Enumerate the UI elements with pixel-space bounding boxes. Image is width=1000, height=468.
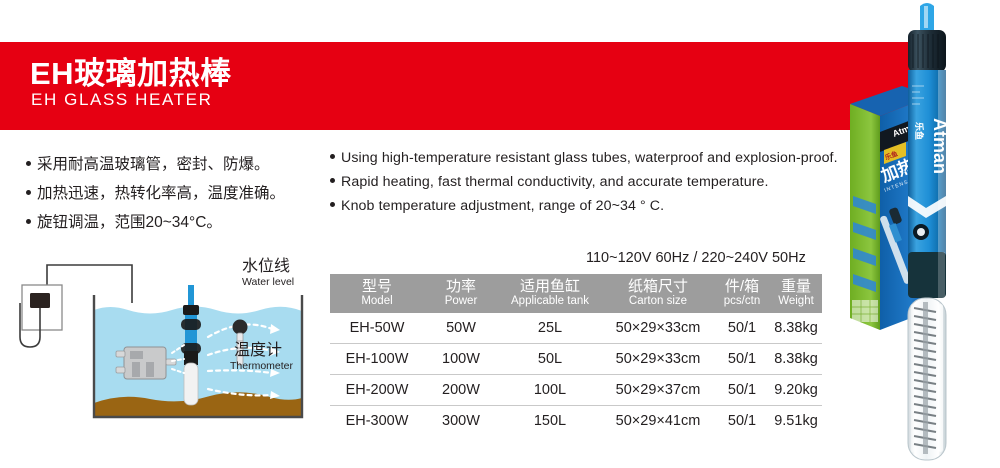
page-subtitle: EH GLASS HEATER [31,90,212,110]
water-level-label-en: Water level [242,276,294,288]
column-header-en: Power [424,295,498,308]
cell-tank: 25L [498,313,602,344]
cell-pcs: 50/1 [714,406,770,437]
feature-text: Using high-temperature resistant glass t… [341,150,838,166]
thermometer-label-cn: 温度计 [234,341,282,359]
glass-gloss-left [911,304,914,452]
column-header-cn: 功率 [424,278,498,295]
feature-text: Rapid heating, fast thermal conductivity… [341,174,769,190]
cell-pcs: 50/1 [714,344,770,375]
cell-model: EH-100W [330,344,424,375]
cell-weight: 9.20kg [770,375,822,406]
column-header-en: Carton size [602,295,714,308]
specification-table: 型号 Model 功率 Power 适用鱼缸 Applicable tank 纸… [330,274,822,436]
column-header-tank: 适用鱼缸 Applicable tank [498,274,602,313]
table-row: EH-200W 200W 100L 50×29×37cm 50/1 9.20kg [330,375,822,406]
voltage-note: 110~120V 60Hz / 220~240V 50Hz [586,250,806,266]
controller-display-icon [30,293,50,308]
feature-list-english: Using high-temperature resistant glass t… [330,150,850,222]
cell-power: 300W [424,406,498,437]
table-row: EH-300W 300W 150L 50×29×41cm 50/1 9.51kg [330,406,822,437]
column-header-carton: 纸箱尺寸 Carton size [602,274,714,313]
cell-power: 100W [424,344,498,375]
bullet-dot-icon [26,190,31,195]
column-header-pcs: 件/箱 pcs/ctn [714,274,770,313]
cell-carton: 50×29×41cm [602,406,714,437]
box-spec-print [852,300,878,322]
column-header-cn: 重量 [770,278,822,295]
feature-text: 旋钮调温，范围20~34°C。 [37,210,222,232]
cell-carton: 50×29×37cm [602,375,714,406]
cell-weight: 8.38kg [770,344,822,375]
bullet-dot-icon [26,219,31,224]
column-header-weight: 重量 Weight [770,274,822,313]
table-row: EH-50W 50W 25L 50×29×33cm 50/1 8.38kg [330,313,822,344]
cell-weight: 8.38kg [770,313,822,344]
collar-highlight [938,252,945,298]
column-header-cn: 型号 [330,278,424,295]
cell-power: 50W [424,313,498,344]
list-item: Knob temperature adjustment, range of 20… [330,198,850,214]
list-item: Rapid heating, fast thermal conductivity… [330,174,850,190]
column-header-en: Weight [770,295,822,308]
column-header-en: Model [330,295,424,308]
heater-brand-cn: 乐鱼 [914,122,925,140]
column-header-en: Applicable tank [498,295,602,308]
cell-pcs: 50/1 [714,313,770,344]
cell-pcs: 50/1 [714,375,770,406]
page-title: EH玻璃加热棒 [30,48,232,93]
heater-product: Atman 乐鱼 [908,3,950,460]
feature-text: 加热迅速，热转化率高，温度准确。 [37,181,285,203]
column-header-cn: 纸箱尺寸 [602,278,714,295]
column-header-model: 型号 Model [330,274,424,313]
list-item: 旋钮调温，范围20~34°C。 [26,210,326,232]
cell-carton: 50×29×33cm [602,313,714,344]
product-photo: Atman 乐鱼 EH-300W 加热棒 INTENSITY HEATER [850,0,1000,468]
bullet-dot-icon [330,178,335,183]
box-front-face [850,104,880,330]
glass-gloss [938,304,943,452]
knob-center-icon [917,228,925,236]
cell-tank: 50L [498,344,602,375]
feature-text: 采用耐高温玻璃管，密封、防爆。 [37,152,270,174]
column-header-cn: 件/箱 [714,278,770,295]
cell-power: 200W [424,375,498,406]
heater-cap [908,30,946,72]
column-header-cn: 适用鱼缸 [498,278,602,295]
column-header-en: pcs/ctn [714,295,770,308]
list-item: 加热迅速，热转化率高，温度准确。 [26,181,326,203]
cell-carton: 50×29×33cm [602,344,714,375]
cell-model: EH-200W [330,375,424,406]
table-header-row: 型号 Model 功率 Power 适用鱼缸 Applicable tank 纸… [330,274,822,313]
cell-tank: 150L [498,406,602,437]
heater-brand-text: Atman [930,118,950,174]
cell-weight: 9.51kg [770,406,822,437]
water-level-label-cn: 水位线 [242,257,290,275]
bullet-dot-icon [330,154,335,159]
hanger-highlight [924,6,928,28]
bullet-dot-icon [330,202,335,207]
list-item: 采用耐高温玻璃管，密封、防爆。 [26,152,326,174]
cell-tank: 100L [498,375,602,406]
thermometer-label-en: Thermometer [230,360,294,372]
header-banner: EH玻璃加热棒 EH GLASS HEATER [0,42,928,130]
cell-model: EH-50W [330,313,424,344]
table-row: EH-100W 100W 50L 50×29×33cm 50/1 8.38kg [330,344,822,375]
column-header-power: 功率 Power [424,274,498,313]
feature-text: Knob temperature adjustment, range of 20… [341,198,664,214]
list-item: Using high-temperature resistant glass t… [330,150,850,166]
feature-list-chinese: 采用耐高温玻璃管，密封、防爆。 加热迅速，热转化率高，温度准确。 旋钮调温，范围… [26,152,326,239]
cell-model: EH-300W [330,406,424,437]
aquarium-diagram: 水位线 Water level 温度计 Thermometer [12,255,322,435]
bullet-dot-icon [26,161,31,166]
